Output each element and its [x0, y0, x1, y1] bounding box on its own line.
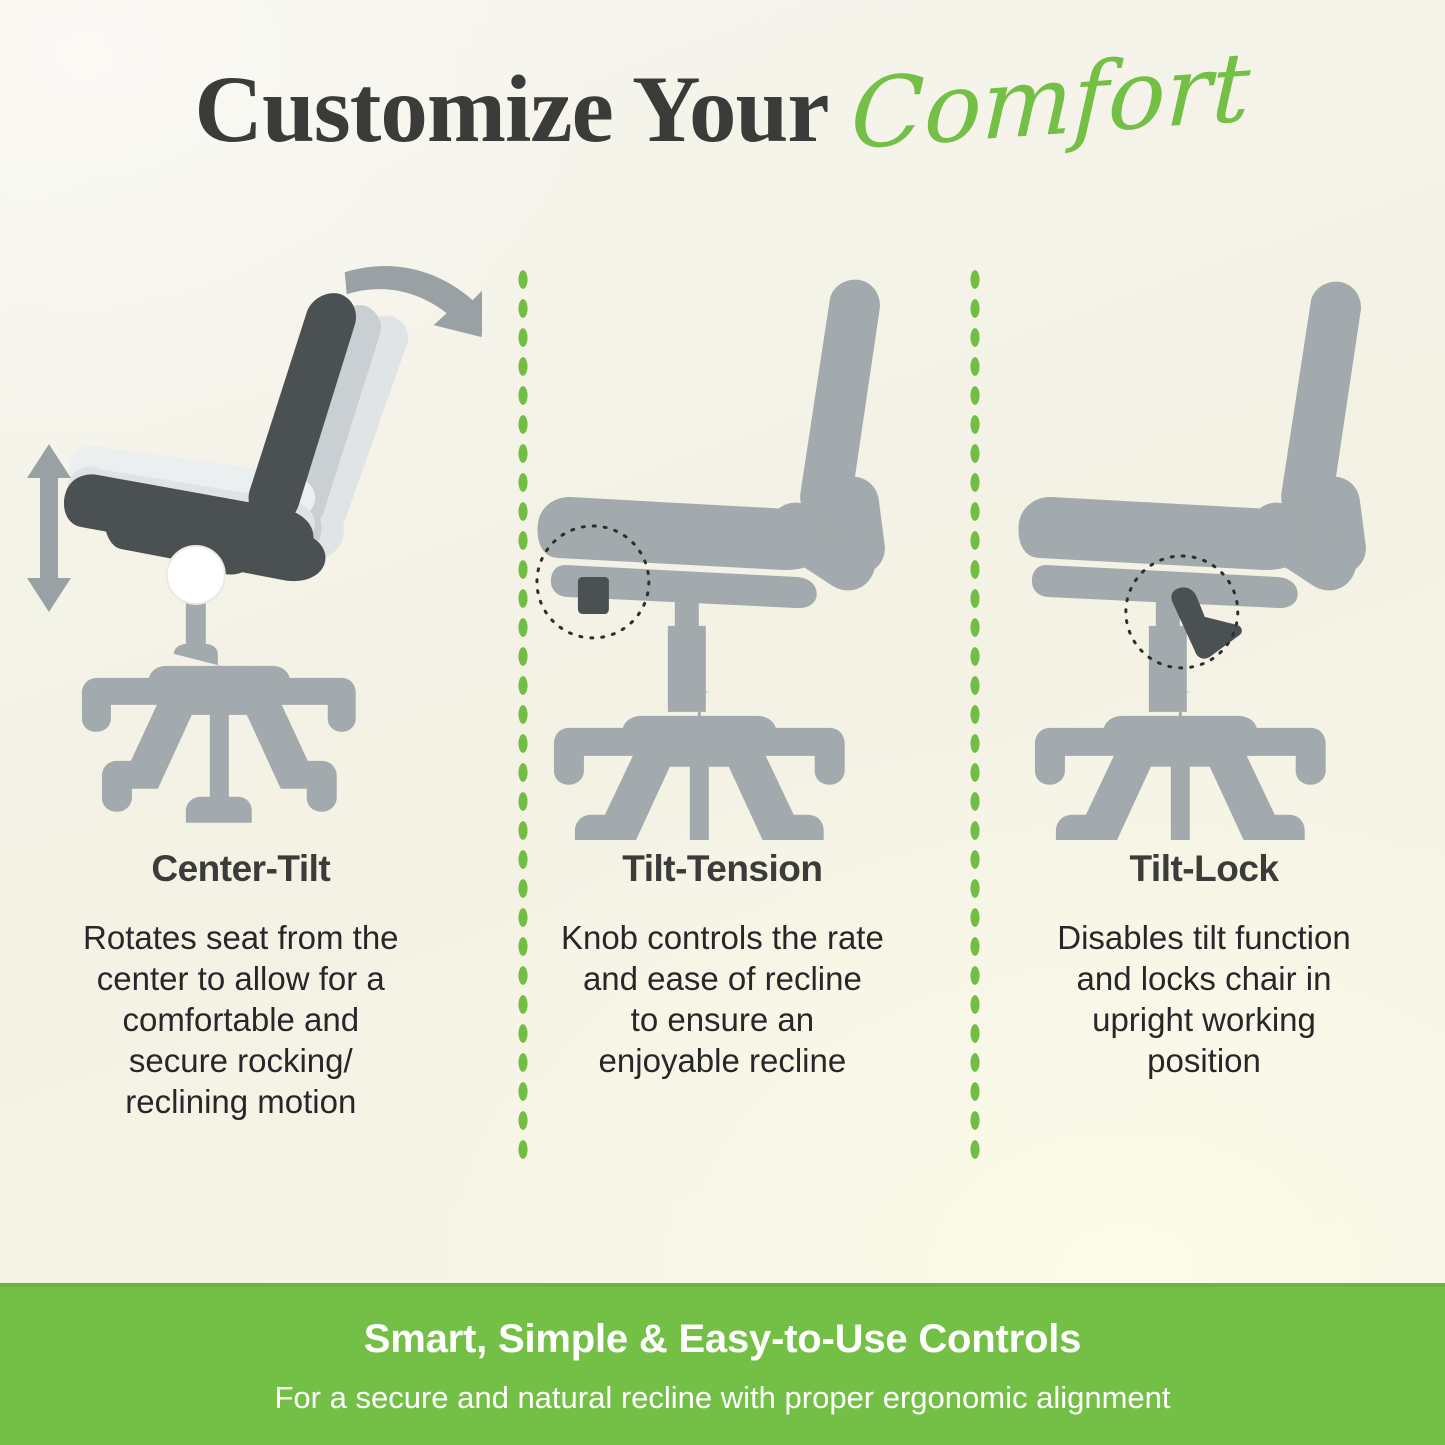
chair-body — [537, 280, 884, 840]
pivot-point-icon — [167, 546, 225, 604]
tension-knob-icon — [578, 577, 609, 614]
page-header: Customize Your Comfort — [0, 0, 1445, 200]
feature-column-center-tilt: Center-Tilt Rotates seat from the center… — [0, 240, 482, 1240]
page-title-script: Comfort — [849, 39, 1251, 163]
column-title: Tilt-Lock — [1129, 848, 1278, 890]
column-title: Center-Tilt — [151, 848, 330, 890]
column-body: Rotates seat from the center to allow fo… — [66, 918, 416, 1123]
infographic-poster: Customize Your Comfort — [0, 0, 1445, 1445]
center-tilt-illustration — [0, 240, 482, 840]
chair-body — [1019, 282, 1366, 840]
column-title: Tilt-Tension — [622, 848, 822, 890]
dotted-divider-1 — [516, 265, 530, 1160]
tilt-tension-illustration — [482, 240, 964, 840]
page-title-main: Customize Your — [194, 62, 828, 157]
feature-column-tilt-tension: Tilt-Tension Knob controls the rate and … — [482, 240, 964, 1240]
dotted-divider-2 — [968, 265, 982, 1160]
footer-title: Smart, Simple & Easy-to-Use Controls — [364, 1317, 1081, 1362]
column-body: Knob controls the rate and ease of recli… — [547, 918, 897, 1082]
feature-columns: Center-Tilt Rotates seat from the center… — [0, 240, 1445, 1240]
chair-base — [82, 578, 356, 823]
footer-subtitle: For a secure and natural recline with pr… — [274, 1380, 1170, 1416]
vertical-double-arrow-icon — [27, 444, 71, 612]
column-body: Disables tilt function and locks chair i… — [1029, 918, 1379, 1082]
tilt-lock-illustration — [963, 240, 1445, 840]
footer-banner: Smart, Simple & Easy-to-Use Controls For… — [0, 1283, 1445, 1445]
feature-column-tilt-lock: Tilt-Lock Disables tilt function and loc… — [963, 240, 1445, 1240]
